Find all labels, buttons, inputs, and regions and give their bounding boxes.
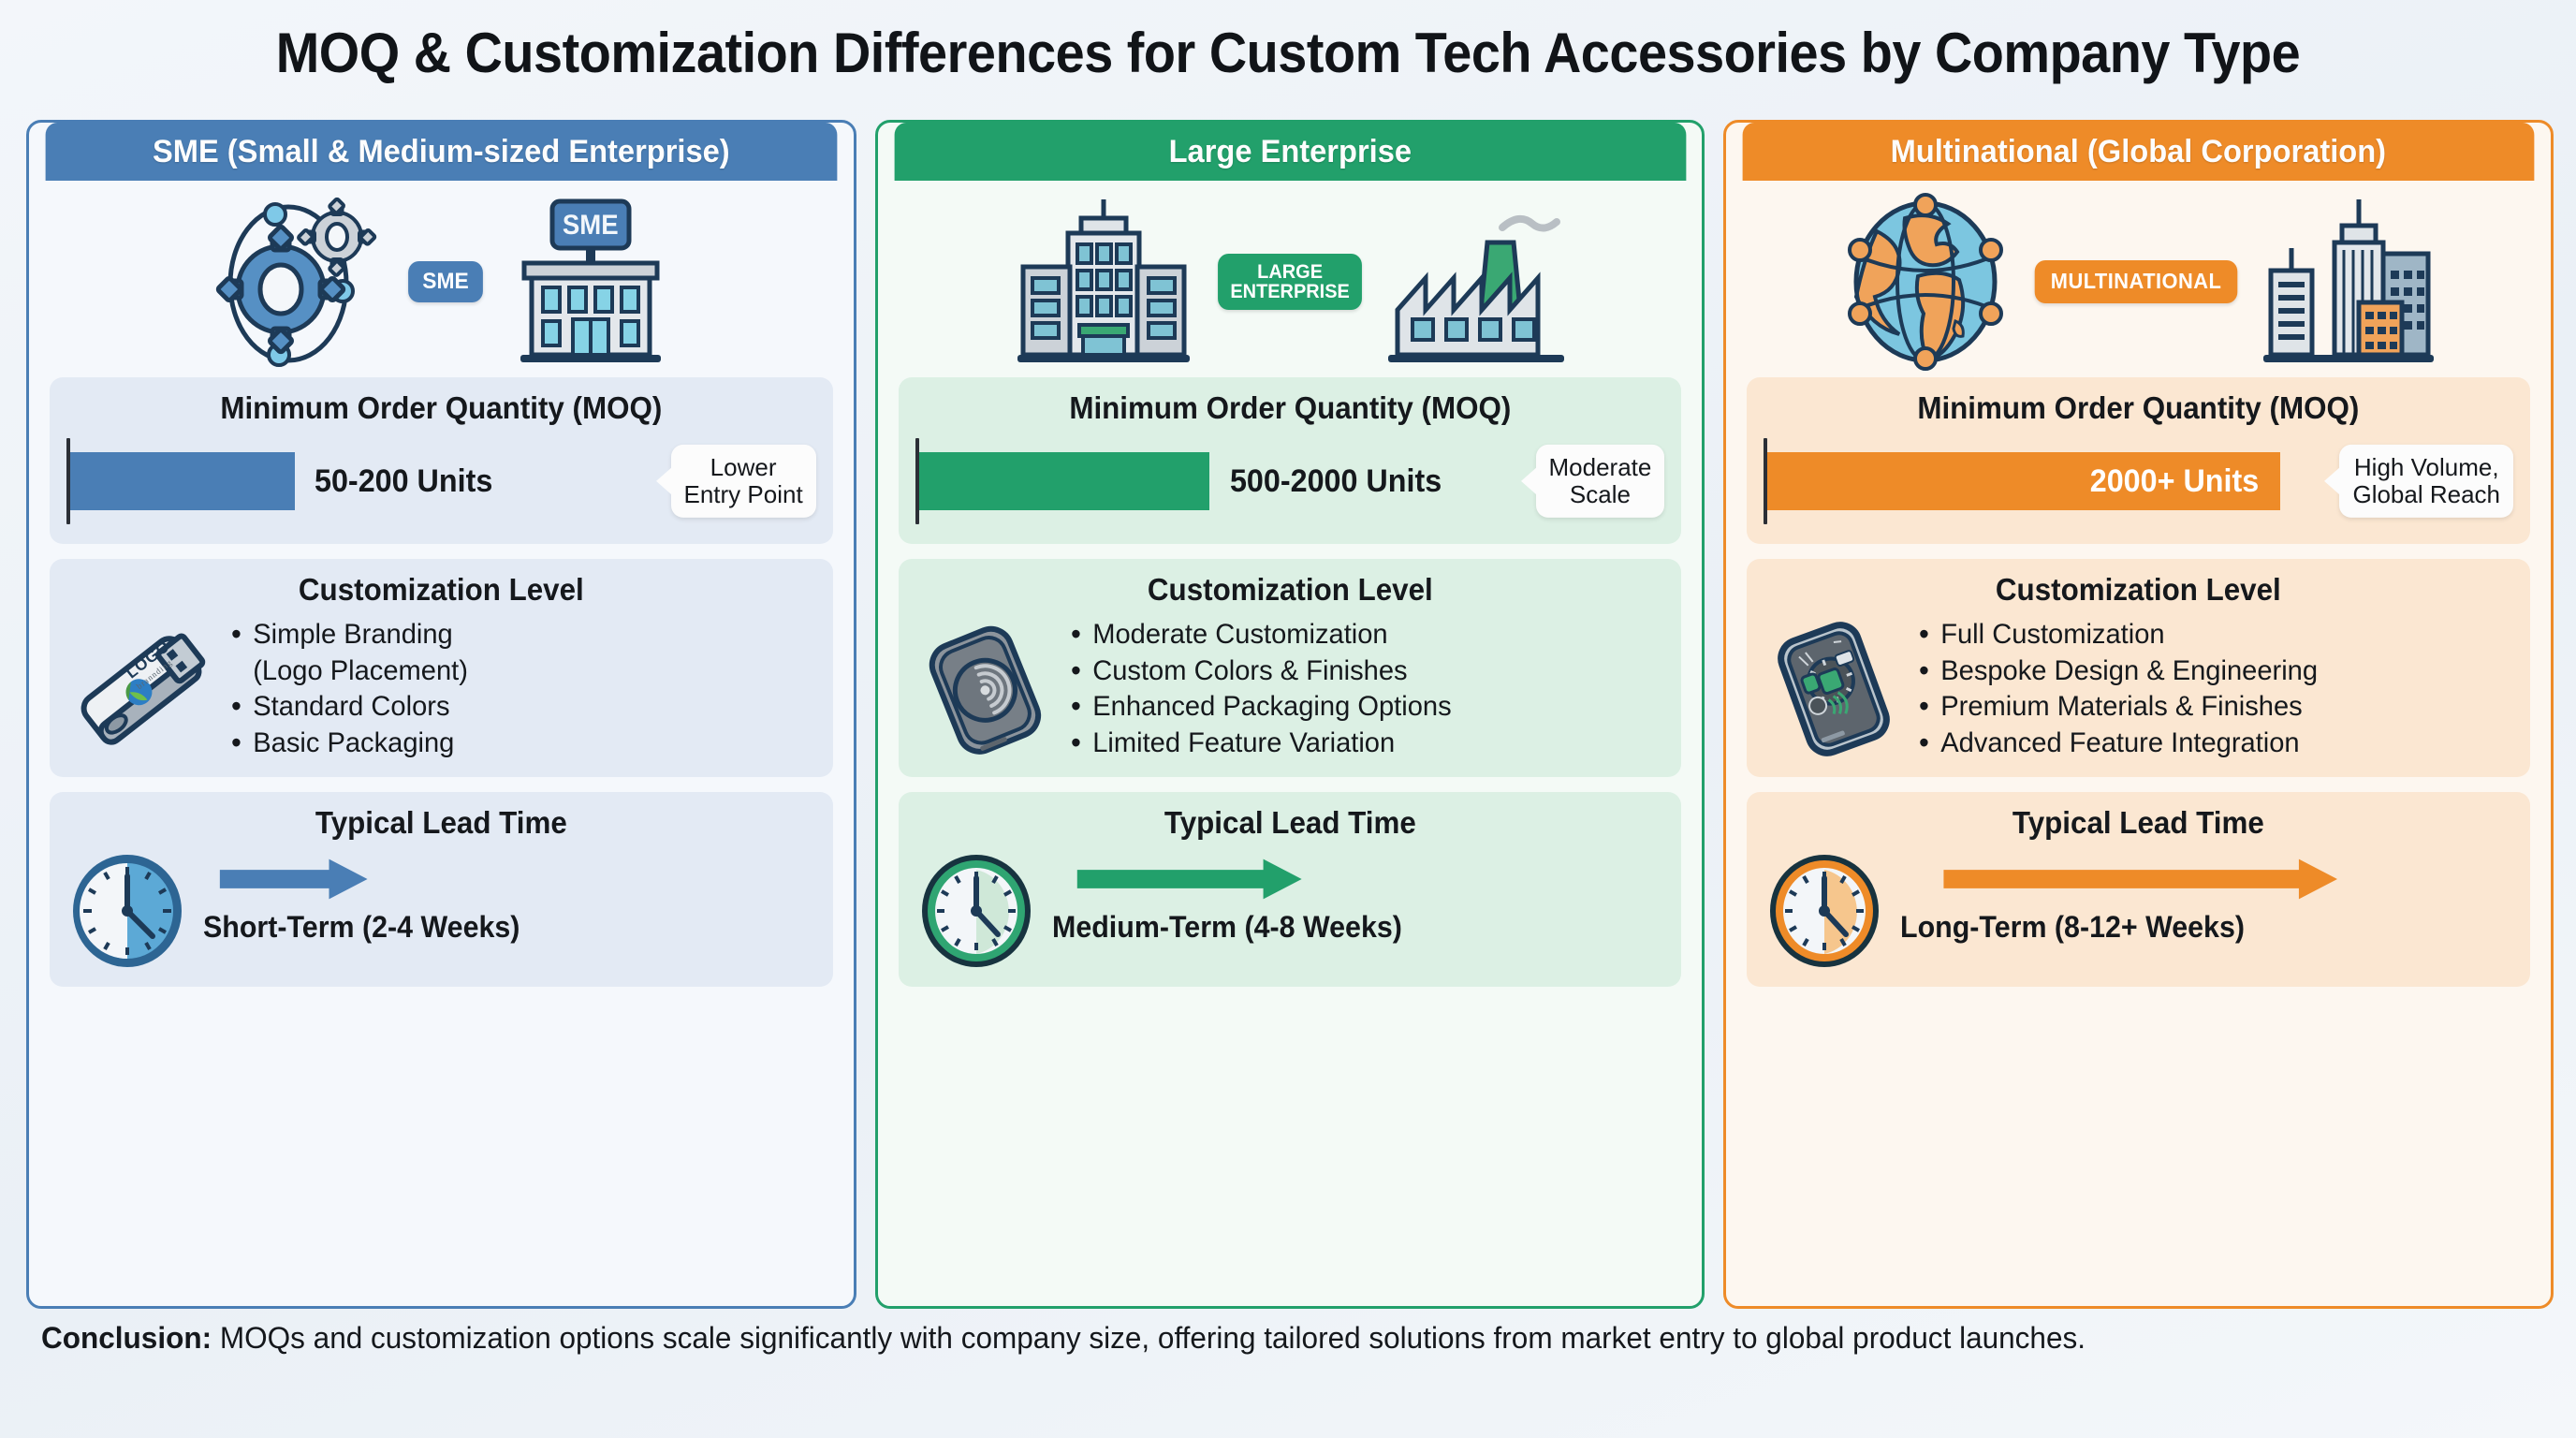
smart-device-circuit-icon [1764, 619, 1904, 759]
icon-strip-large: LARGE ENTERPRISE [878, 181, 1703, 377]
lead-time-value-large: Medium-Term (4-8 Weeks) [1052, 910, 1402, 945]
customization-card-multinational: Customization Level [1747, 559, 2530, 777]
badge-large-enterprise: LARGE ENTERPRISE [1218, 254, 1362, 311]
icon-strip-multinational: MULTINATIONAL [1726, 181, 2551, 377]
badge-sme: SME [408, 261, 483, 302]
customization-bullets-multinational: Full Customization Bespoke Design & Engi… [1917, 617, 2330, 762]
customization-title-large: Customization Level [934, 572, 1647, 608]
list-item: (Logo Placement) [229, 653, 468, 690]
right-arrow-icon [203, 858, 536, 901]
moq-bar-large [919, 452, 1209, 510]
lead-time-detail-large: Medium-Term (4-8 Weeks) [1052, 850, 1421, 945]
list-item: Bespoke Design & Engineering [1917, 653, 2318, 690]
moq-card-multinational: Minimum Order Quantity (MOQ) 2000+ Units… [1747, 377, 2530, 544]
lead-time-row-sme: Short-Term (2-4 Weeks) [66, 848, 816, 972]
badge-line-1: LARGE [1230, 262, 1349, 282]
infographic-root: MOQ & Customization Differences for Cust… [0, 0, 2576, 1438]
list-item: Enhanced Packaging Options [1069, 689, 1452, 726]
moq-card-sme: Minimum Order Quantity (MOQ) 50-200 Unit… [50, 377, 833, 544]
list-item: Full Customization [1917, 617, 2318, 653]
office-tower-icon [1010, 198, 1197, 366]
usb-flash-drive-logo-icon: LOGO brannding [66, 619, 216, 759]
customization-title-sme: Customization Level [85, 572, 798, 608]
customization-row-large: Moderate Customization Custom Colors & F… [915, 615, 1665, 762]
lead-time-detail-multinational: Long-Term (8-12+ Weeks) [1900, 850, 2387, 945]
city-skyline-icon [2260, 198, 2437, 366]
moq-callout-line-1: High Volume, [2352, 454, 2500, 481]
moq-bar-row-large: 500-2000 Units Moderate Scale [915, 433, 1665, 529]
icon-strip-sme: SME SME [29, 181, 854, 377]
column-header-multinational: Multinational (Global Corporation) [1743, 123, 2534, 181]
badge-line-2: ENTERPRISE [1230, 282, 1349, 301]
moq-title-multinational: Minimum Order Quantity (MOQ) [1782, 390, 2495, 426]
office-building-icon: SME [502, 198, 680, 366]
list-item: Custom Colors & Finishes [1069, 653, 1452, 690]
factory-icon [1383, 198, 1570, 366]
lead-time-value-multinational: Long-Term (8-12+ Weeks) [1900, 910, 2363, 945]
lead-time-row-large: Medium-Term (4-8 Weeks) [915, 848, 1665, 972]
gears-orbit-icon [202, 198, 389, 366]
customization-card-large: Customization Level [899, 559, 1682, 777]
moq-callout-line-1: Moderate [1549, 454, 1652, 481]
column-large-enterprise: Large Enterprise [875, 120, 1705, 1309]
lead-time-row-multinational: Long-Term (8-12+ Weeks) [1764, 848, 2513, 972]
right-arrow-icon [1900, 858, 2387, 901]
moq-value-multinational: 2000+ Units [2090, 463, 2259, 500]
svg-text:SME: SME [563, 210, 619, 241]
column-sme: SME (Small & Medium-sized Enterprise) [26, 120, 856, 1309]
moq-callout-multinational: High Volume, Global Reach [2339, 445, 2513, 518]
column-multinational: Multinational (Global Corporation) [1723, 120, 2554, 1309]
page-title: MOQ & Customization Differences for Cust… [90, 21, 2485, 85]
clock-icon [66, 850, 188, 972]
lead-time-title-multinational: Typical Lead Time [1782, 805, 2495, 841]
lead-time-title-large: Typical Lead Time [934, 805, 1647, 841]
moq-callout-line-2: Global Reach [2352, 481, 2500, 508]
column-header-large: Large Enterprise [894, 123, 1685, 181]
conclusion-text: MOQs and customization options scale sig… [212, 1321, 2086, 1355]
globe-network-icon [1839, 198, 2012, 366]
moq-title-large: Minimum Order Quantity (MOQ) [934, 390, 1647, 426]
moq-callout-sme: Lower Entry Point [671, 445, 816, 518]
customization-bullets-large: Moderate Customization Custom Colors & F… [1069, 617, 1463, 762]
clock-icon [1764, 850, 1885, 972]
moq-bar-sme [70, 452, 295, 510]
company-type-columns: SME (Small & Medium-sized Enterprise) [26, 120, 2554, 1309]
lead-time-title-sme: Typical Lead Time [85, 805, 798, 841]
lead-time-card-multinational: Typical Lead Time [1747, 792, 2530, 987]
list-item: Advanced Feature Integration [1917, 726, 2318, 762]
moq-callout-line-2: Entry Point [684, 481, 803, 508]
lead-time-detail-sme: Short-Term (2-4 Weeks) [203, 850, 536, 945]
moq-bar-row-multinational: 2000+ Units High Volume, Global Reach [1764, 433, 2513, 529]
conclusion-label: Conclusion: [41, 1321, 212, 1355]
customization-card-sme: Customization Level [50, 559, 833, 777]
lead-time-card-large: Typical Lead Time [899, 792, 1682, 987]
moq-title-sme: Minimum Order Quantity (MOQ) [85, 390, 798, 426]
badge-multinational: MULTINATIONAL [2035, 260, 2238, 302]
moq-callout-line-2: Scale [1549, 481, 1652, 508]
list-item: Limited Feature Variation [1069, 726, 1452, 762]
lead-time-card-sme: Typical Lead Time [50, 792, 833, 987]
moq-card-large: Minimum Order Quantity (MOQ) 500-2000 Un… [899, 377, 1682, 544]
list-item: Basic Packaging [229, 726, 468, 762]
moq-callout-line-1: Lower [684, 454, 803, 481]
list-item: Premium Materials & Finishes [1917, 689, 2318, 726]
list-item: Standard Colors [229, 689, 468, 726]
column-header-sme: SME (Small & Medium-sized Enterprise) [46, 123, 837, 181]
customization-bullets-sme: Simple Branding (Logo Placement) Standar… [229, 617, 476, 762]
moq-value-large: 500-2000 Units [1230, 463, 1442, 500]
right-arrow-icon [1052, 858, 1421, 901]
moq-value-sme: 50-200 Units [315, 463, 492, 500]
wireless-charging-pad-icon [915, 619, 1056, 759]
moq-bar-row-sme: 50-200 Units Lower Entry Point [66, 433, 816, 529]
customization-row-multinational: Full Customization Bespoke Design & Engi… [1764, 615, 2513, 762]
customization-row-sme: LOGO brannding Simple Branding (Logo Pla… [66, 615, 816, 762]
lead-time-value-sme: Short-Term (2-4 Weeks) [203, 910, 520, 945]
clock-icon [915, 850, 1037, 972]
list-item: Moderate Customization [1069, 617, 1452, 653]
moq-callout-large: Moderate Scale [1536, 445, 1665, 518]
customization-title-multinational: Customization Level [1782, 572, 2495, 608]
list-item: Simple Branding [229, 617, 468, 653]
moq-bar-multinational: 2000+ Units [1767, 452, 2280, 510]
conclusion: Conclusion: MOQs and customization optio… [41, 1318, 2494, 1358]
